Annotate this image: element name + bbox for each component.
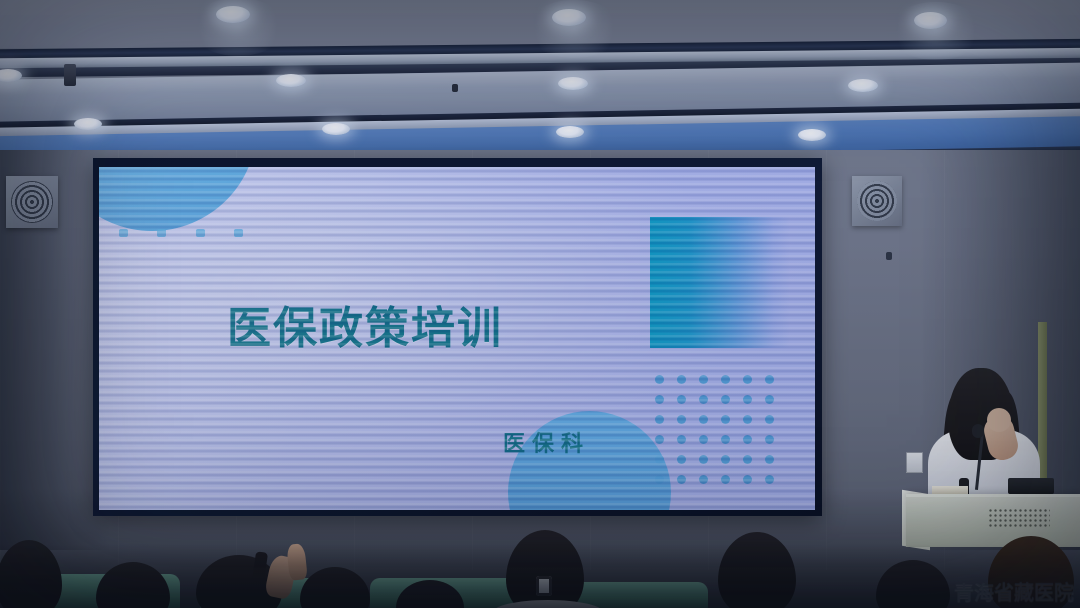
slide-decor-top-left-dots bbox=[119, 229, 243, 239]
ceiling-downlight bbox=[798, 129, 826, 141]
ceiling-downlight bbox=[848, 79, 878, 92]
ceiling-downlight bbox=[914, 12, 947, 29]
wall-speaker-left-icon bbox=[6, 176, 58, 228]
presenter-hand bbox=[987, 408, 1011, 432]
ceiling-sensor-icon bbox=[452, 84, 458, 92]
ceiling-downlight bbox=[556, 126, 584, 138]
podium-laptop bbox=[1008, 478, 1054, 494]
slide-decor-gradient-rect bbox=[650, 217, 790, 348]
ceiling-downlight bbox=[74, 118, 102, 130]
ceiling-downlight bbox=[276, 74, 306, 87]
projection-screen[interactable]: 医保政策培训 医保科 bbox=[99, 167, 815, 510]
slide-subtitle: 医保科 bbox=[503, 426, 590, 458]
speaker-rings bbox=[11, 181, 53, 223]
ceiling-downlight bbox=[322, 123, 350, 135]
speaker-rings bbox=[857, 181, 897, 221]
slide-decor-dot-grid bbox=[655, 375, 787, 495]
podium-grille bbox=[988, 508, 1050, 528]
wall-speaker-right-icon bbox=[852, 176, 902, 226]
ceiling bbox=[0, 0, 1080, 150]
ceiling-sensor-icon bbox=[64, 64, 76, 86]
slide-title: 医保政策培训 bbox=[227, 292, 503, 356]
presentation-slide: 医保政策培训 医保科 bbox=[99, 167, 815, 510]
watermark: 青海省藏医院 bbox=[954, 576, 1074, 605]
ceiling-downlight bbox=[552, 9, 586, 26]
presentation-photo-scene: 医保政策培训 医保科 青海省藏医院 bbox=[0, 0, 1080, 608]
microphone-icon bbox=[972, 424, 984, 438]
hair-clip bbox=[536, 576, 552, 596]
wall-fixture-icon bbox=[886, 252, 892, 260]
ceiling-downlight bbox=[216, 6, 250, 23]
ceiling-downlight bbox=[558, 77, 588, 90]
